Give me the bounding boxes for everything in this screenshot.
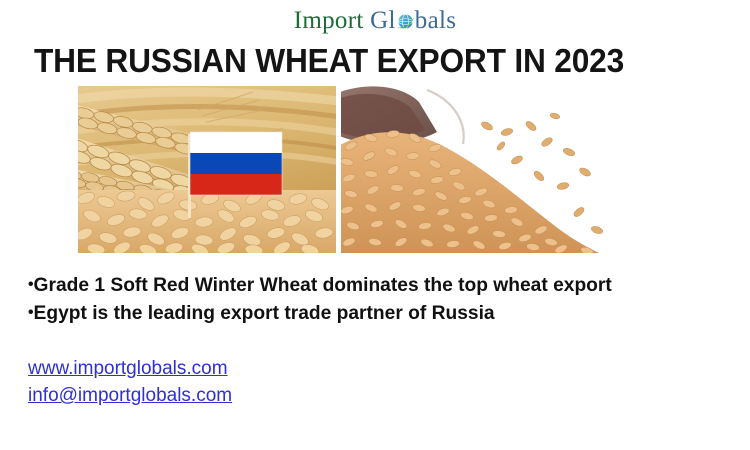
brand-name-bals: bals [415, 7, 456, 34]
brand-logo: Import Gl b [0, 6, 750, 36]
list-item: •Grade 1 Soft Red Winter Wheat dominates… [28, 272, 718, 300]
wheat-grains-spilling-photo [341, 86, 608, 253]
wheat-stalks-with-russian-flag-photo [78, 86, 336, 253]
brand-name-import: Import [294, 7, 364, 34]
email-link[interactable]: info@importglobals.com [28, 382, 232, 409]
bullet-marker: • [28, 276, 34, 293]
slide-canvas: Import Gl b [0, 0, 750, 450]
bullet-marker: • [28, 304, 34, 321]
website-link[interactable]: www.importglobals.com [28, 355, 232, 382]
bullet-list: •Grade 1 Soft Red Winter Wheat dominates… [28, 272, 728, 328]
photo-row [78, 86, 608, 253]
brand-name-gl: Gl [370, 7, 396, 34]
contact-links: www.importglobals.com info@importglobals… [28, 355, 232, 409]
page-title: THE RUSSIAN WHEAT EXPORT IN 2023 [34, 42, 696, 80]
globe-icon [396, 9, 415, 28]
list-item: •Egypt is the leading export trade partn… [28, 300, 718, 328]
bullet-text: Egypt is the leading export trade partne… [34, 302, 495, 324]
bullet-text: Grade 1 Soft Red Winter Wheat dominates … [34, 274, 612, 296]
